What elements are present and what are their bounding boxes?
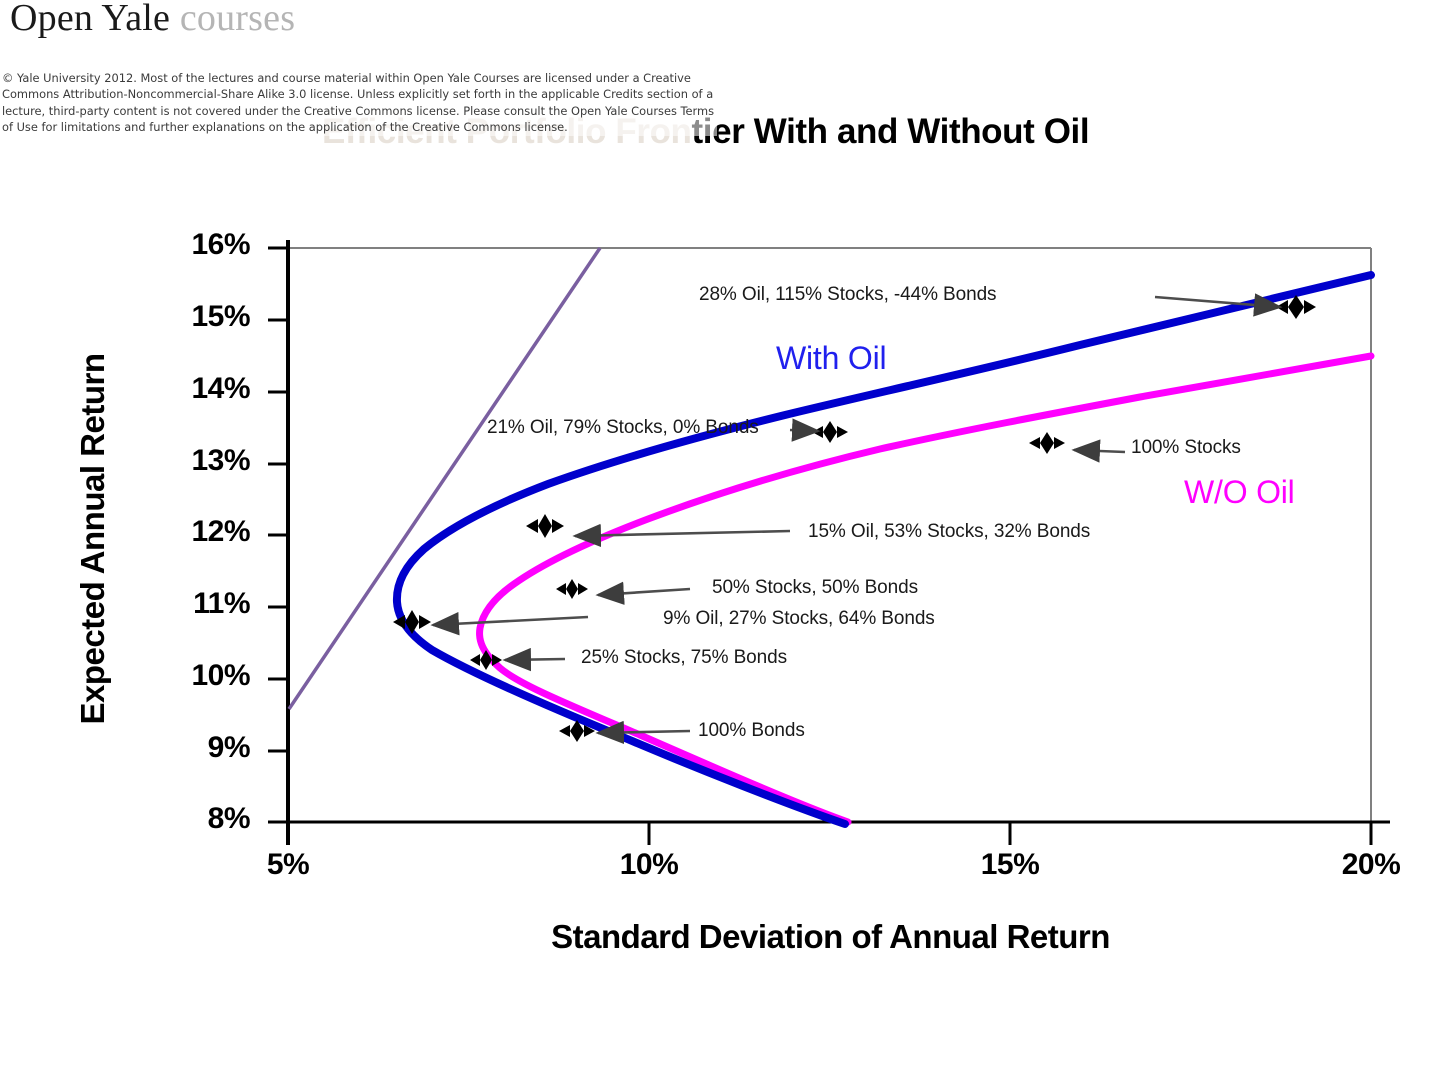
series-label-without-oil: W/O Oil [1184,474,1295,511]
y-tick-label-16: 16% [140,228,250,262]
y-tick-label-10: 10% [140,659,250,693]
y-axis-title: Expected Annual Return [74,324,112,754]
efficient-frontier-chart: Expected Annual Return Standard Deviatio… [0,0,1440,1080]
y-tick-label-14: 14% [140,372,250,406]
x-tick-label-20: 20% [1311,848,1431,882]
y-tick-label-11: 11% [140,587,250,621]
copyright-notice: © Yale University 2012. Most of the lect… [2,70,717,136]
slide-title-solid-segment: tier With and Without Oil [692,112,1090,151]
y-tick-label-12: 12% [140,515,250,549]
annotation-100-stocks: 100% Stocks [1131,437,1241,459]
annotation-15-oil-53-stocks: 15% Oil, 53% Stocks, 32% Bonds [808,521,1090,543]
arrow-9-oil [433,617,588,625]
y-tick-label-15: 15% [140,300,250,334]
series-label-with-oil: With Oil [776,340,886,377]
x-tick-label-5: 5% [228,848,348,882]
y-tick-label-8: 8% [140,802,250,836]
annotation-50-stocks-50-bonds: 50% Stocks, 50% Bonds [712,577,918,599]
x-axis-ticks [288,822,1371,845]
annotation-21-oil-79-stocks: 21% Oil, 79% Stocks, 0% Bonds [487,417,759,439]
annotation-25-stocks-75-bonds: 25% Stocks, 75% Bonds [581,647,787,669]
y-axis-ticks [268,248,288,822]
arrow-50-50 [598,589,690,595]
annotation-28-oil-115-stocks: 28% Oil, 115% Stocks, -44% Bonds [699,284,996,306]
y-tick-label-9: 9% [140,731,250,765]
annotation-100-bonds: 100% Bonds [698,720,805,742]
arrow-25-75 [505,659,565,660]
x-tick-label-15: 15% [950,848,1070,882]
x-axis-title: Standard Deviation of Annual Return [288,918,1373,956]
arrow-21-oil [790,430,818,431]
annotation-9-oil-27-stocks: 9% Oil, 27% Stocks, 64% Bonds [663,608,935,630]
arrow-100-stocks [1074,450,1125,452]
y-tick-label-13: 13% [140,444,250,478]
x-tick-label-10: 10% [589,848,709,882]
